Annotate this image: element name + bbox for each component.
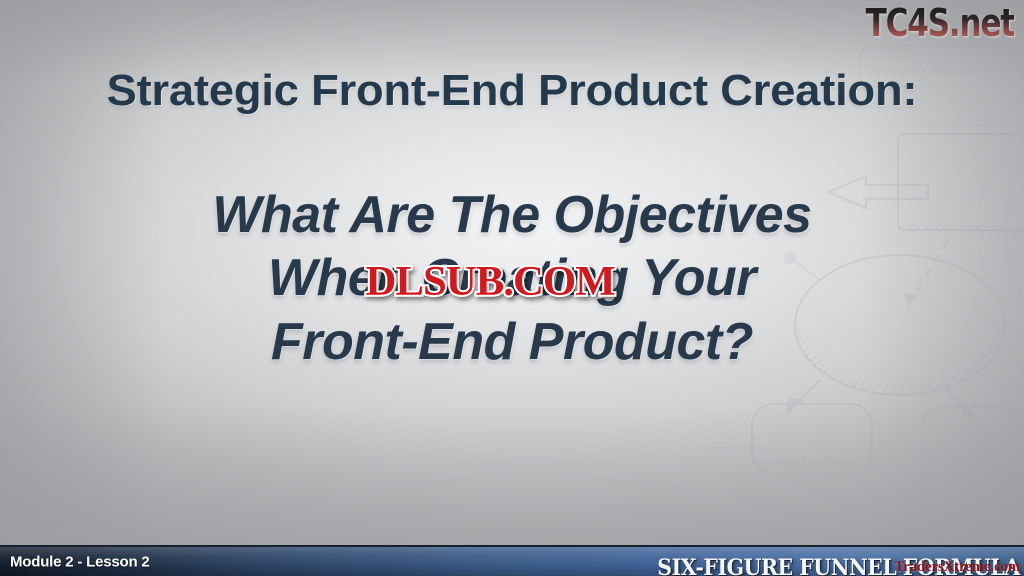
tradersxtreme-watermark: TradersXtreme.com — [894, 560, 1020, 575]
slide-canvas: TC4S.net Strategic Front-End Product Cre… — [0, 0, 1024, 576]
page-title: Strategic Front-End Product Creation: — [0, 68, 1024, 115]
footer-bar: Module 2 - Lesson 2 SIX-FIGURE FUNNEL FO… — [0, 545, 1024, 576]
module-lesson-label: Module 2 - Lesson 2 — [10, 553, 150, 570]
question-line-3: Front-End Product? — [0, 311, 1024, 374]
question-line-1: What Are The Objectives — [0, 184, 1024, 247]
tc4s-site-logo-watermark: TC4S.net — [866, 4, 1014, 42]
dlsub-watermark: DLSUB.COM — [366, 261, 615, 303]
